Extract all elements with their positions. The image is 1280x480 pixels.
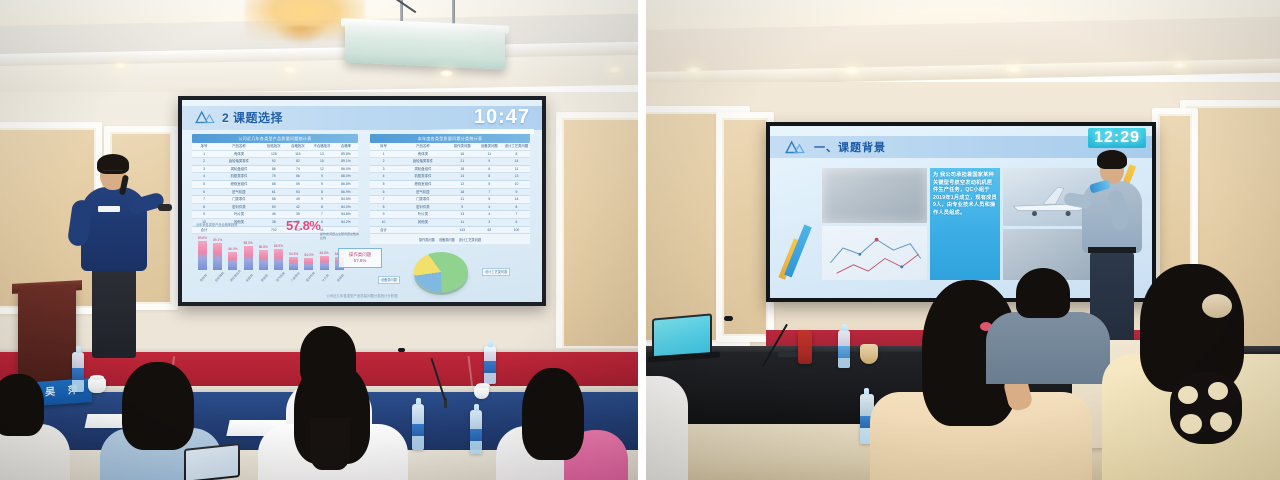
table-cell: 84.8%: [334, 211, 358, 218]
table-cell: 128: [262, 151, 286, 158]
downlight-2: [844, 66, 860, 75]
bottle-label: [72, 368, 84, 380]
table-cell: 5: [370, 181, 397, 188]
pie-callout-label: 操作类问题: [349, 252, 372, 257]
table-cell: 门类零件: [216, 196, 262, 203]
hair-scrunchie: [1202, 294, 1232, 318]
shoulders: [646, 376, 688, 480]
table-cell: 门类零件: [397, 196, 449, 203]
table-cell: 8: [310, 189, 334, 196]
microphone-icon: [724, 316, 733, 321]
bar-value-label: 89.1%: [213, 238, 222, 242]
left-presenter: [72, 148, 172, 363]
presenter-clicker: [158, 204, 172, 211]
pie-slice-label: 设计工艺类问题: [485, 270, 507, 274]
water-bottle-2: [484, 346, 496, 384]
presenter-hair: [1097, 150, 1127, 169]
water-bottle-4: [470, 410, 482, 454]
audience-member-4: [268, 362, 398, 480]
downlight-1: [114, 62, 127, 69]
table-cell: 11: [476, 151, 503, 158]
table-cell: 涡轮盘组件: [397, 166, 449, 173]
bar: [228, 252, 237, 270]
water-bottle-1: [838, 330, 850, 368]
slide-table-left: 公司近几年各类型产品质量问题统计表 序号 产品名称 检验批次 合格批次 不合格批…: [192, 134, 358, 234]
table-cell: 9: [503, 189, 530, 196]
audience-member-3: [994, 268, 1104, 378]
table-cell: 7: [476, 189, 503, 196]
bar: [198, 241, 207, 270]
bar-category-label: 密封件类: [305, 271, 316, 283]
table-cell: 74: [286, 166, 310, 173]
table-row: 9叶片类4639784.8%: [192, 211, 358, 219]
table-cell: 13: [310, 151, 334, 158]
table-row: 3涡轮盘组件18611: [370, 166, 530, 174]
table-cell: 21: [449, 158, 476, 165]
technical-route-diagram: [822, 226, 927, 281]
bar-category-label: 涡轮盘组件: [229, 269, 242, 283]
table-cell: 10: [370, 219, 397, 226]
right-room: 一、课题背景 12:29: [646, 0, 1280, 480]
collage-col-left: [822, 168, 927, 280]
table-cell: 86.8%: [334, 181, 358, 188]
table-cell: 进气机匣: [216, 189, 262, 196]
pie-note-left: 设备类问题: [378, 276, 400, 284]
hair: [0, 374, 44, 436]
presenter-legs: [92, 266, 136, 358]
th: 检验批次: [262, 143, 286, 150]
bar-category-label: 其他类: [336, 273, 345, 282]
th: 产品名称: [397, 143, 449, 150]
hair-back: [310, 418, 350, 470]
table-cell: 18: [449, 166, 476, 173]
table-row: 5燃烧室组件6859986.8%: [192, 181, 358, 189]
laptop-screen: [184, 443, 240, 480]
legend-item: 设备类问题: [439, 237, 455, 244]
table-cell: 5: [476, 196, 503, 203]
table-row: 8密封件类948: [370, 204, 530, 212]
right-conference-photo: 一、课题背景 12:29: [646, 0, 1280, 480]
table-cell: 齿轮轴类零件: [216, 158, 262, 165]
table-cell: 3: [370, 166, 397, 173]
left-conference-photo: 2 课题选择 10:47 公司近几年各类型产品质量问题统计表 序号 产品名称 检…: [0, 0, 638, 480]
table-row: 10其他类1136: [370, 219, 530, 227]
table-cell: 53: [286, 189, 310, 196]
water-bottle-3: [412, 404, 424, 450]
ceiling-projector: [345, 22, 505, 69]
th: 合格批次: [286, 143, 310, 150]
table-cell: 89.8%: [334, 151, 358, 158]
bar: [304, 258, 313, 270]
table-cell: 8: [476, 173, 503, 180]
table-cell: 66: [286, 173, 310, 180]
left-timestamp: 10:47: [474, 106, 530, 129]
table-cell: 9: [192, 211, 216, 218]
table-cell: 4: [476, 211, 503, 218]
table-cell: 合计: [370, 227, 397, 234]
slide-text: 为 我公司承担着国家某种关键型号航空发动机机匣件生产任务，QC小组于2019年1…: [933, 172, 997, 217]
table-cell: 14: [503, 196, 530, 203]
table-cell: 58: [262, 196, 286, 203]
mic-base: [778, 352, 800, 357]
left-room: 2 课题选择 10:47 公司近几年各类型产品质量问题统计表 序号 产品名称 检…: [0, 0, 638, 480]
highlight-percentage: 57.8%: [286, 218, 320, 233]
graphic-cut-2: [1208, 382, 1228, 400]
screenshot-root: 2 课题选择 10:47 公司近几年各类型产品质量问题统计表 序号 产品名称 检…: [0, 0, 1280, 480]
table-row: 6进气机匣1879: [370, 189, 530, 197]
table-cell: 18: [449, 189, 476, 196]
table-cell: 86: [262, 166, 286, 173]
table-cell: 5: [192, 181, 216, 188]
table-cell: 叶片类: [397, 211, 449, 218]
table-cell: 11: [449, 219, 476, 226]
table-cell: 92: [262, 158, 286, 165]
bar-value-label: 89.8%: [198, 236, 207, 240]
table-cell: 62: [476, 227, 503, 234]
wooden-cup: [860, 344, 878, 364]
hair: [1016, 268, 1070, 318]
red-thermos: [798, 330, 812, 364]
downlight-3: [440, 70, 453, 77]
highlight-note: 操作类问题占全部问题总数的比例: [320, 233, 360, 241]
table-cell: 4: [192, 173, 216, 180]
presenter-badge: [98, 206, 120, 212]
table-cell: 8: [503, 151, 530, 158]
shirt-graphic: [1170, 372, 1242, 444]
bottle-label: [470, 429, 482, 441]
legend-item: 设计工艺类问题: [459, 237, 481, 244]
th: 设备类问题: [476, 143, 503, 150]
th: 序号: [192, 143, 216, 150]
downlight-2: [284, 66, 297, 73]
bar-value-label: 88.0%: [244, 241, 253, 245]
table-cell: 2: [370, 158, 397, 165]
table-row: 8密封件类5042884.0%: [192, 204, 358, 212]
laptop-display: [186, 445, 238, 480]
hair: [522, 368, 584, 460]
table-row: 4机匣类零件14813: [370, 173, 530, 181]
table-cell: 7: [503, 211, 530, 218]
table-cell: 2: [192, 158, 216, 165]
th: 设计工艺类问题: [503, 143, 530, 150]
bar-category-label: 进气机匣: [275, 271, 286, 283]
table-cell: 59: [286, 181, 310, 188]
table-left-header-row: 序号 产品名称 检验批次 合格批次 不合格批次 合格率: [192, 143, 358, 151]
table-cell: 16: [449, 151, 476, 158]
table-row: 5燃烧室组件12510: [370, 181, 530, 189]
th: 不合格批次: [310, 143, 334, 150]
wall-panel-right: [556, 112, 638, 354]
th: 合格率: [334, 143, 358, 150]
bar-category-label: 壳体类: [199, 273, 208, 282]
pie-callout-primary: 操作类问题 57.8%: [338, 248, 382, 268]
shoulders: [986, 312, 1110, 384]
table-cell: 86.9%: [334, 189, 358, 196]
table-cell: 9: [310, 196, 334, 203]
table-cell: 机匣类零件: [397, 173, 449, 180]
table-cell: 11: [449, 196, 476, 203]
chandelier-glow: [276, 26, 326, 46]
microphone-icon: [398, 348, 405, 352]
factory-workshop-photo: [822, 168, 927, 223]
table-row: 6进气机匣6153886.9%: [192, 189, 358, 197]
table-cell: 4: [476, 204, 503, 211]
table-cell: 12: [310, 166, 334, 173]
panel-divider: [638, 0, 646, 480]
slide-title: 一、课题背景: [814, 139, 886, 155]
table-cell: 42: [286, 204, 310, 211]
teacup-2: [474, 386, 489, 399]
graphic-cut-4: [1210, 412, 1232, 432]
table-cell: 其他类: [397, 219, 449, 226]
pie-callout-value: 57.8%: [354, 258, 367, 263]
bar-value-label: 86.8%: [259, 245, 268, 249]
table-row: 4机匣类零件7566988.0%: [192, 173, 358, 181]
table-left-caption: 公司近几年各类型产品质量问题统计表: [192, 134, 358, 143]
table-cell: 4: [370, 173, 397, 180]
table-cell: 壳体类: [216, 151, 262, 158]
table-cell: 8: [503, 204, 530, 211]
teacup-1: [88, 378, 106, 393]
table-cell: 12: [449, 181, 476, 188]
downlight-4: [608, 66, 621, 73]
table-row: 7门类零件11514: [370, 196, 530, 204]
table-cell: 机匣类零件: [216, 173, 262, 180]
bar: [213, 243, 222, 270]
table-cell: 88.0%: [334, 173, 358, 180]
table-cell: 密封件类: [397, 204, 449, 211]
table-cell: 6: [503, 219, 530, 226]
audience-member-1: [0, 374, 70, 480]
table-cell: 壳体类: [397, 151, 449, 158]
table-left-caption-text: 公司近几年各类型产品质量问题统计表: [192, 134, 358, 143]
table-cell: 46: [262, 211, 286, 218]
table-cell: 8: [192, 204, 216, 211]
bar-value-label: 84.0%: [304, 253, 313, 257]
bar-value-label: 86.0%: [228, 247, 237, 251]
table-cell: 进气机匣: [397, 189, 449, 196]
table-cell: 3: [192, 166, 216, 173]
slide-surface: 2 课题选择 10:47 公司近几年各类型产品质量问题统计表 序号 产品名称 检…: [182, 100, 542, 302]
table-cell: 7: [310, 211, 334, 218]
projection-screen-frame: 2 课题选择 10:47 公司近几年各类型产品质量问题统计表 序号 产品名称 检…: [178, 96, 546, 306]
th: 产品名称: [216, 143, 262, 150]
image-collage: 为 我公司承担着国家某种关键型号航空发动机机匣件生产任务，QC小组于2019年1…: [822, 168, 1108, 280]
audience-member-1: [646, 348, 694, 480]
table-cell: 14: [503, 158, 530, 165]
table-cell: 6: [476, 166, 503, 173]
hair: [122, 362, 194, 450]
table-cell: 10: [310, 158, 334, 165]
pie-slice-label: 设备类问题: [381, 278, 397, 282]
bar: [259, 250, 268, 270]
slide-text-block: 为 我公司承担着国家某种关键型号航空发动机机匣件生产任务，QC小组于2019年1…: [930, 168, 1000, 280]
table-cell: 9: [310, 173, 334, 180]
bar-value-label: 84.5%: [289, 252, 298, 256]
table-cell: 143: [449, 227, 476, 234]
bar: [289, 257, 298, 271]
table-cell: 密封件类: [216, 204, 262, 211]
table-row: 2齿轮轴类零件92821089.1%: [192, 158, 358, 166]
table-cell: 50: [262, 204, 286, 211]
bar-category-label: 门类零件: [290, 271, 301, 283]
table-cell: 齿轮轴类零件: [397, 158, 449, 165]
bar-category-label: 燃烧室: [260, 273, 269, 282]
table-cell: 8: [310, 204, 334, 211]
table-cell: 7: [370, 196, 397, 203]
bar-category-label: 叶片类: [321, 273, 330, 282]
table-row: 2齿轮轴类零件21914: [370, 158, 530, 166]
bottle-label: [412, 424, 424, 436]
slide-footer: 公司近几年各类型产品质量问题分类统计分析图: [182, 293, 542, 298]
table-cell: 61: [262, 189, 286, 196]
table-cell: 115: [286, 151, 310, 158]
bar-chart-caption: 近年来各类型产品合格率趋势: [196, 222, 237, 227]
table-cell: 86.0%: [334, 166, 358, 173]
table-right-caption-text: 本年度各类型质量问题分类统计表: [370, 134, 530, 143]
graphic-cut-1: [1178, 386, 1198, 404]
table-cell: 9: [449, 204, 476, 211]
table-cell: 39: [286, 211, 310, 218]
table-cell: 7: [192, 196, 216, 203]
table-cell: 84.5%: [334, 196, 358, 203]
th: 操作类问题: [449, 143, 476, 150]
audience-member-5: [506, 368, 618, 480]
graphic-cut-3: [1180, 414, 1202, 434]
table-row: 7门类零件5849984.5%: [192, 196, 358, 204]
legend-item: 操作类问题: [419, 237, 435, 244]
mountain-peak-icon: [784, 139, 806, 155]
table-cell: 11: [503, 166, 530, 173]
bar-value-label: 84.8%: [320, 251, 329, 255]
table-right-body: 1壳体类161182齿轮轴类零件219143涡轮盘组件186114机匣类零件14…: [370, 151, 530, 235]
slide-table-right: 本年度各类型质量问题分类统计表 序号 产品名称 操作类问题 设备类问题 设计工艺…: [370, 134, 530, 244]
downlight-3: [1006, 64, 1022, 73]
table-row: 9叶片类1347: [370, 211, 530, 219]
bar-value-label: 86.9%: [274, 244, 283, 248]
table-cell: 84.2%: [334, 219, 358, 226]
th: 序号: [370, 143, 397, 150]
right-timestamp: 12:29: [1094, 129, 1140, 146]
table-row: 1壳体类1281151389.8%: [192, 151, 358, 159]
table-right-caption: 本年度各类型质量问题分类统计表: [370, 134, 530, 143]
table-cell: 75: [262, 173, 286, 180]
bar: [274, 249, 283, 270]
table-cell: 84.0%: [334, 204, 358, 211]
bar: [320, 256, 329, 270]
table-cell: 13: [449, 211, 476, 218]
pie-chart: [414, 252, 468, 292]
table-cell: 38: [262, 219, 286, 226]
downlight-1: [686, 66, 702, 75]
audience-member-2: [106, 362, 216, 480]
table-cell: 89.1%: [334, 158, 358, 165]
right-timestamp-box: 12:29: [1088, 128, 1146, 148]
table-cell: 68: [262, 181, 286, 188]
table-cell: 9: [310, 181, 334, 188]
presenter-belt: [1088, 247, 1136, 253]
table-cell: 9: [370, 211, 397, 218]
table-row: 1壳体类16118: [370, 151, 530, 159]
table-cell: 3: [476, 219, 503, 226]
pie-body: [414, 252, 468, 292]
glasses-icon: [103, 170, 123, 176]
table-cell: 6: [192, 189, 216, 196]
table-cell: 6: [370, 189, 397, 196]
table-cell: 49: [286, 196, 310, 203]
bar-category-label: 机匣类: [245, 273, 254, 282]
table-cell: 9: [476, 158, 503, 165]
table-cell: 5: [476, 181, 503, 188]
bottle-label: [838, 346, 850, 358]
table-cell: 10: [503, 181, 530, 188]
bar: [244, 246, 253, 270]
table-cell: 燃烧室组件: [397, 181, 449, 188]
table-cell: 82: [286, 158, 310, 165]
mountain-peak-icon: [194, 109, 216, 125]
table-cell: 叶片类: [216, 211, 262, 218]
table-cell: 1: [370, 151, 397, 158]
bar-category-label: 齿轮轴类: [214, 271, 225, 283]
audience-member-4: [1118, 264, 1280, 480]
pie-note-right: 设计工艺类问题: [482, 268, 510, 276]
water-bottle-1: [72, 352, 84, 392]
table-cell: 14: [449, 173, 476, 180]
table-right-header-row: 序号 产品名称 操作类问题 设备类问题 设计工艺类问题: [370, 143, 530, 151]
table-cell: 1: [192, 151, 216, 158]
table-cell: 13: [503, 173, 530, 180]
table-cell: 涡轮盘组件: [216, 166, 262, 173]
table-row: 合计14362100: [370, 227, 530, 235]
downlight-4: [1172, 60, 1188, 69]
table-cell: 燃烧室组件: [216, 181, 262, 188]
table-row: 3涡轮盘组件86741286.0%: [192, 166, 358, 174]
slide-title: 2 课题选择: [222, 109, 283, 126]
table-cell: 8: [370, 204, 397, 211]
table-cell: [397, 227, 449, 234]
bottle-label: [484, 361, 496, 373]
table-cell: 100: [503, 227, 530, 234]
